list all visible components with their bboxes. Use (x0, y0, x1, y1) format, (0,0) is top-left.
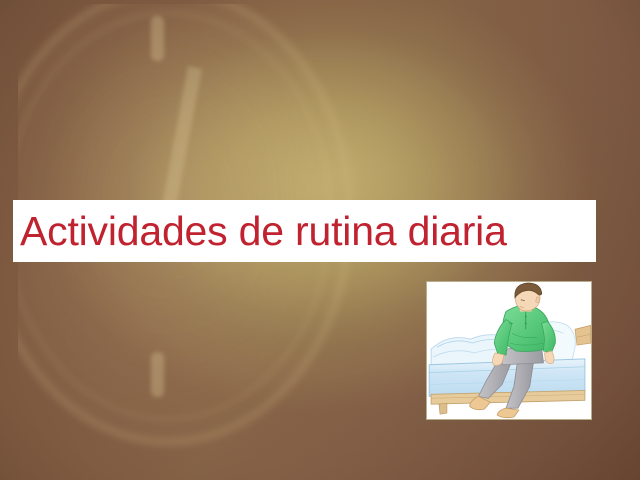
slide: Actividades de rutina diaria (0, 0, 640, 480)
slide-title: Actividades de rutina diaria (20, 211, 507, 252)
title-band: Actividades de rutina diaria (13, 200, 596, 262)
illustration-man-sitting-on-bed (426, 281, 592, 420)
